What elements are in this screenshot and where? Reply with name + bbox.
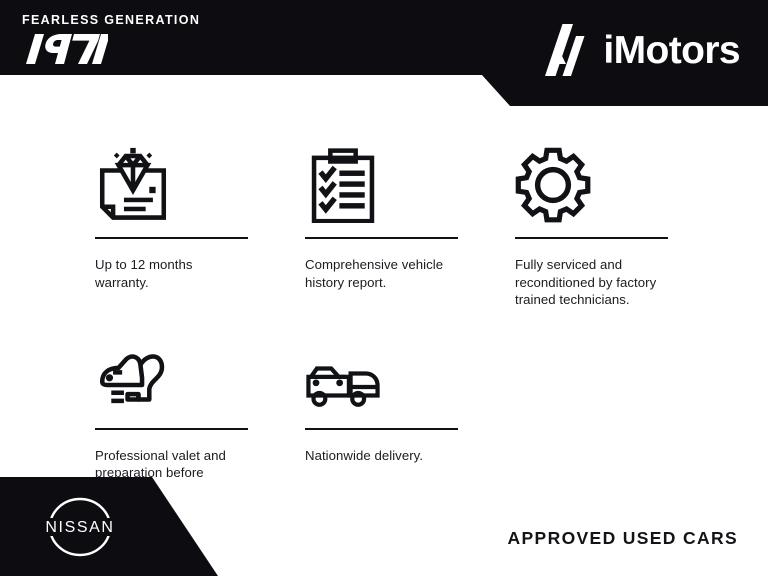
svg-text:NISSAN: NISSAN [45, 519, 114, 536]
vacuum-cleaner-icon [95, 322, 248, 414]
feature-card-valet: Professional valet and preparation befor… [95, 322, 248, 500]
feature-row-1: Up to 12 months warranty. [95, 131, 695, 309]
feature-divider [305, 237, 458, 239]
promo-banner: FEARLESS GENERATION [0, 0, 768, 576]
feature-divider [305, 428, 458, 430]
feature-row-2: Professional valet and preparation befor… [95, 322, 695, 500]
1971-slanted-wordmark-icon [22, 34, 108, 64]
approved-used-cars-label: APPROVED USED CARS [508, 528, 738, 549]
gear-icon [515, 131, 668, 223]
car-transporter-icon [305, 322, 458, 414]
feature-caption: Nationwide delivery. [305, 447, 458, 465]
feature-caption: Fully serviced and reconditioned by fact… [515, 256, 668, 309]
feature-card-serviced: Fully serviced and reconditioned by fact… [515, 131, 668, 309]
feature-divider [95, 237, 248, 239]
feature-card-delivery: Nationwide delivery. [305, 322, 458, 500]
feature-divider [95, 428, 248, 430]
feature-divider [515, 237, 668, 239]
imotors-wordmark: iMotors [603, 31, 740, 70]
header-bar: FEARLESS GENERATION [0, 0, 768, 106]
feature-card-history-report: Comprehensive vehicle history report. [305, 131, 458, 309]
clipboard-checklist-icon [305, 131, 458, 223]
feature-caption: Up to 12 months warranty. [95, 256, 248, 291]
nissan-logo-icon: NISSAN [38, 489, 122, 565]
imotors-brand-lockup: iMotors [536, 22, 740, 78]
feature-grid: Up to 12 months warranty. [95, 131, 695, 499]
feature-card-warranty: Up to 12 months warranty. [95, 131, 248, 309]
certificate-diamond-icon [95, 131, 248, 223]
fearless-generation-lockup: FEARLESS GENERATION [22, 14, 282, 64]
imotors-chevron-icon [536, 22, 592, 78]
header-tagline: FEARLESS GENERATION [22, 14, 282, 27]
feature-caption: Comprehensive vehicle history report. [305, 256, 458, 291]
